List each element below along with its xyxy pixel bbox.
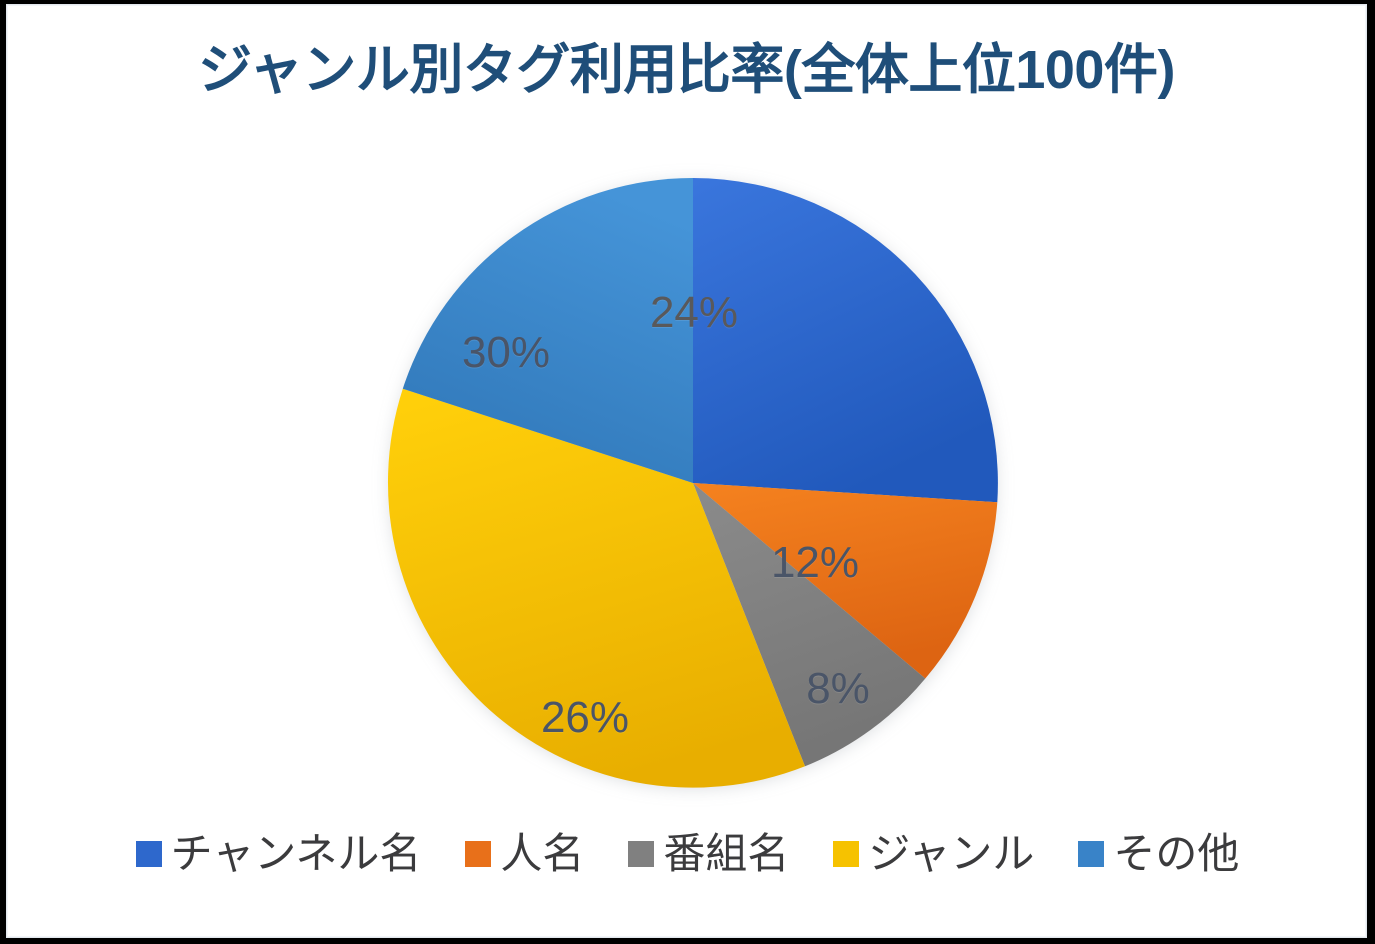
legend-swatch-icon (465, 841, 491, 867)
pie-slice-channel-name[interactable] (693, 178, 998, 502)
legend-label: ジャンル (868, 833, 1034, 875)
pie-label-channel-name: 24% (650, 288, 738, 338)
pie-label-genre: 26% (541, 693, 629, 743)
legend-label: 番組名 (663, 833, 789, 875)
legend-item-other[interactable]: その他 (1078, 833, 1239, 875)
pie-label-other: 30% (462, 328, 550, 378)
chart-title: ジャンル別タグ利用比率(全体上位100件) (7, 41, 1366, 100)
pie-label-program-name: 8% (806, 664, 870, 714)
pie-slices (388, 178, 998, 788)
plot-area: 24% 12% 8% 26% 30% (7, 155, 1368, 815)
legend-swatch-icon (136, 841, 162, 867)
pie-chart: 24% 12% 8% 26% 30% (383, 173, 1003, 793)
legend-swatch-icon (628, 841, 654, 867)
pie-svg (383, 173, 1003, 793)
legend-item-channel-name[interactable]: チャンネル名 (136, 833, 422, 875)
legend-label: チャンネル名 (171, 833, 422, 875)
legend-swatch-icon (833, 841, 859, 867)
legend-label: 人名 (500, 833, 584, 875)
legend-item-genre[interactable]: ジャンル (833, 833, 1034, 875)
pie-label-person-name: 12% (771, 538, 859, 588)
legend-swatch-icon (1078, 841, 1104, 867)
legend-item-program-name[interactable]: 番組名 (628, 833, 789, 875)
legend-label: その他 (1113, 833, 1239, 875)
chart-frame: ジャンル別タグ利用比率(全体上位100件) (6, 4, 1367, 938)
legend-item-person-name[interactable]: 人名 (465, 833, 584, 875)
chart-legend: チャンネル名 人名 番組名 ジャンル その他 (7, 833, 1368, 875)
